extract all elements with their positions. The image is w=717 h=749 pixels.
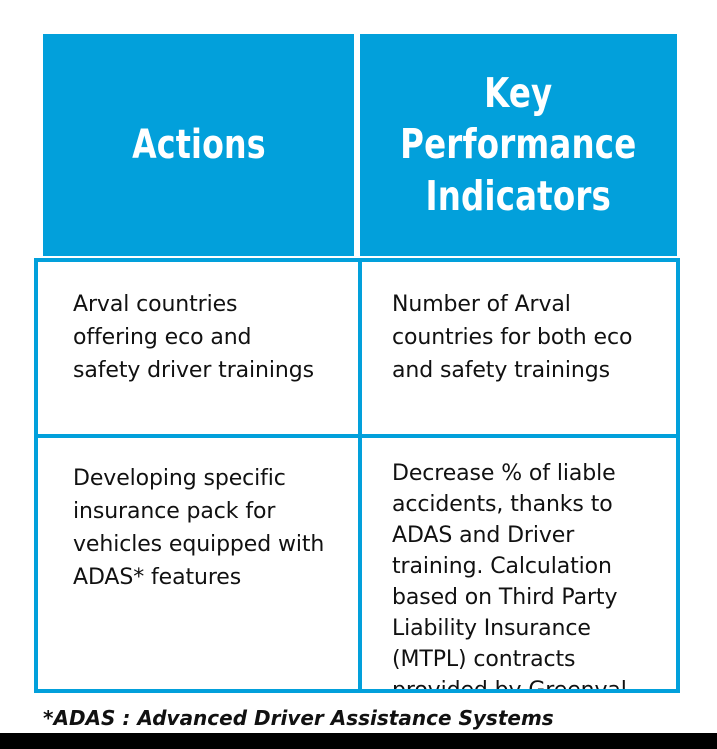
footnote-adas: *ADAS : Advanced Driver Assistance Syste… xyxy=(43,706,554,730)
table-header-kpi-label: Key Performance Indicators xyxy=(400,68,636,222)
table-header-kpi: Key Performance Indicators xyxy=(360,34,677,256)
table-header-actions: Actions xyxy=(43,34,354,256)
table-row: Developing specific insurance pack for v… xyxy=(38,434,676,689)
table-body: Arval countries offering eco and safety … xyxy=(34,258,680,693)
table-cell-action: Developing specific insurance pack for v… xyxy=(38,438,358,689)
table-header-actions-label: Actions xyxy=(132,120,266,170)
table-cell-kpi: Number of Arval countries for both eco a… xyxy=(358,262,676,434)
page-root: Actions Key Performance Indicators Arval… xyxy=(0,0,717,749)
bottom-black-band xyxy=(0,733,717,749)
table-cell-action-text: Developing specific insurance pack for v… xyxy=(73,462,342,594)
table-header-row: Actions Key Performance Indicators xyxy=(43,34,677,256)
table-cell-kpi-text: Decrease % of liable accidents, thanks t… xyxy=(392,458,660,689)
table-row: Arval countries offering eco and safety … xyxy=(38,262,676,434)
table-cell-kpi-text: Number of Arval countries for both eco a… xyxy=(392,288,660,387)
table-cell-kpi: Decrease % of liable accidents, thanks t… xyxy=(358,438,676,689)
table-cell-action: Arval countries offering eco and safety … xyxy=(38,262,358,434)
table-cell-action-text: Arval countries offering eco and safety … xyxy=(73,288,342,387)
